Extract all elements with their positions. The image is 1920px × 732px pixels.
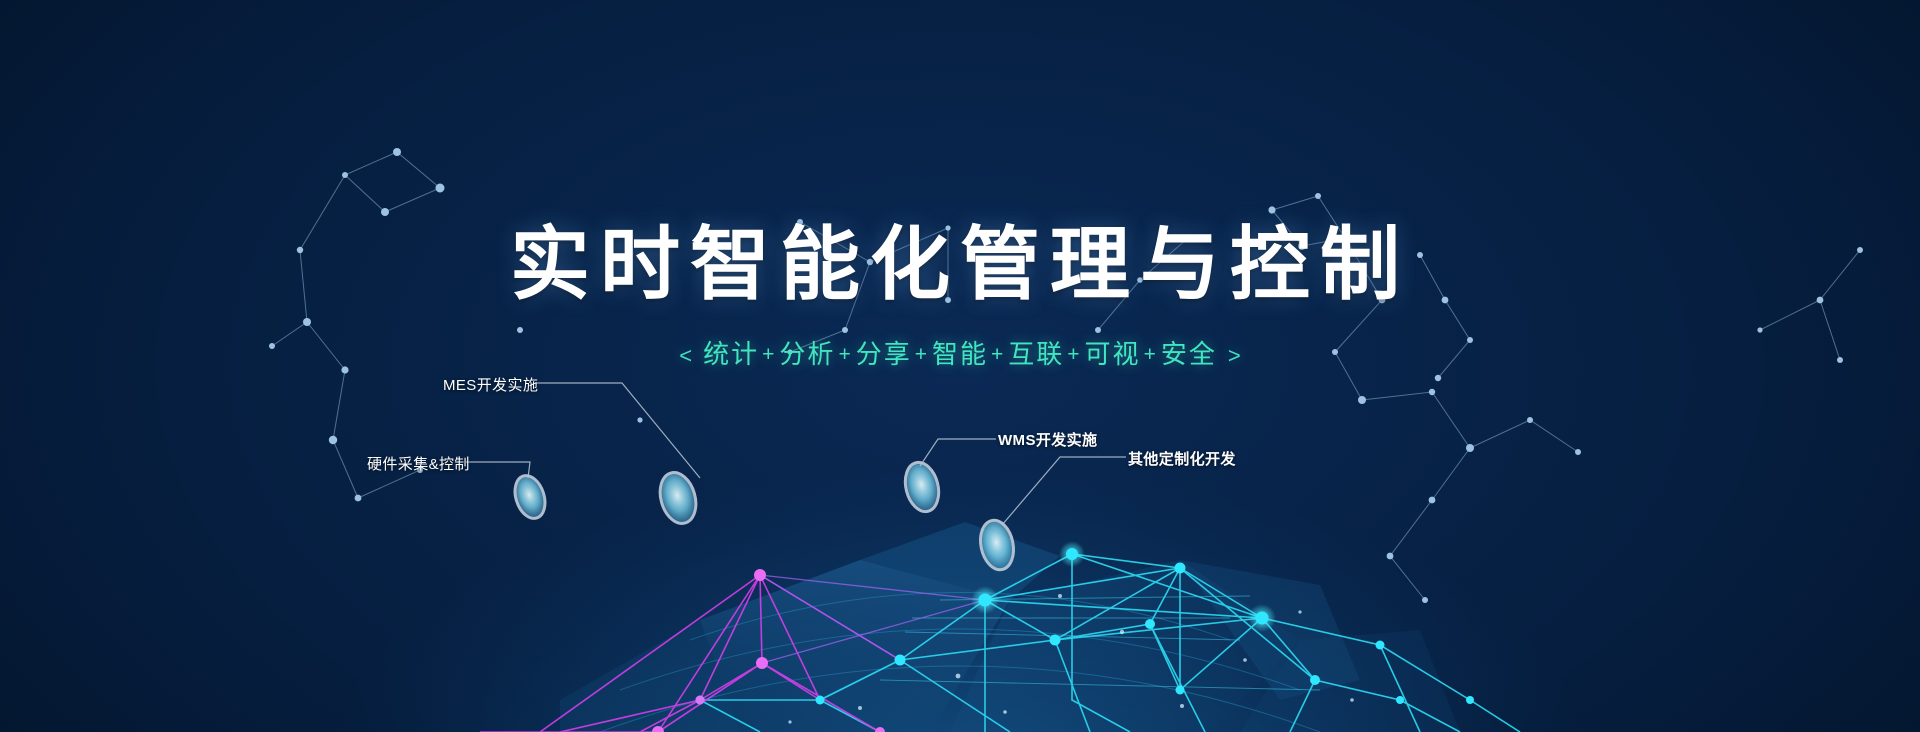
callout-label-hardware: 硬件采集&控制 [367, 453, 470, 474]
callout-label-wms: WMS开发实施 [998, 429, 1097, 450]
banner-stage: 实时智能化管理与控制 <统计+分析+分享+智能+互联+可视+安全> MES开发实… [0, 0, 1920, 732]
globe-network-graphic [0, 0, 1920, 732]
callout-label-mes: MES开发实施 [443, 374, 538, 395]
callout-label-other: 其他定制化开发 [1128, 448, 1236, 469]
